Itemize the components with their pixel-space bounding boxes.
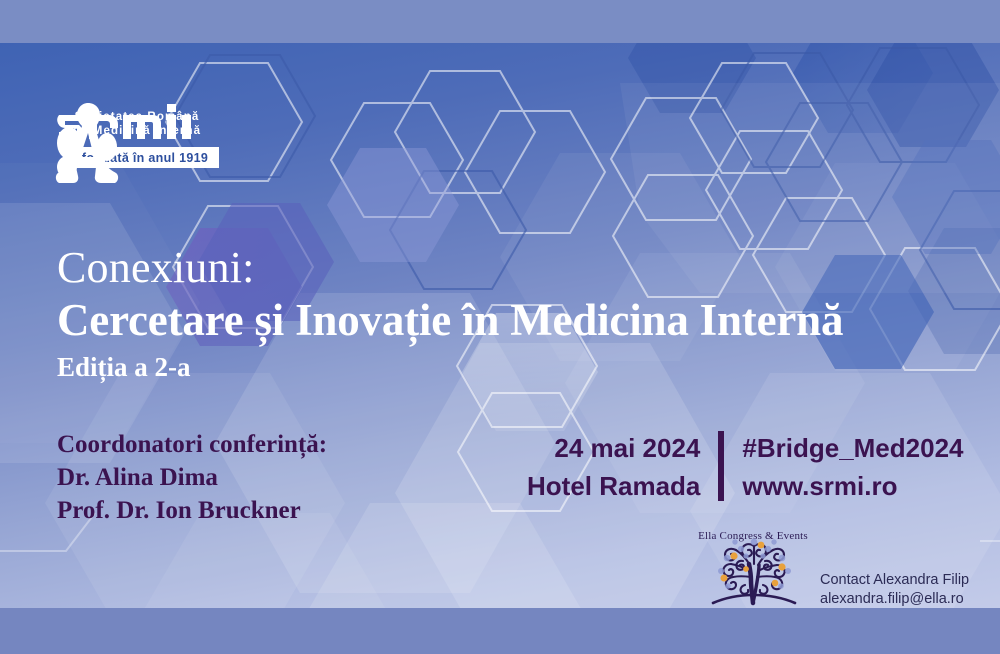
coordinator-name-1: Dr. Alina Dima bbox=[57, 461, 327, 494]
headline-block: Conexiuni: Cercetare și Inovație în Medi… bbox=[57, 243, 843, 385]
event-date: 24 mai 2024 bbox=[527, 429, 700, 467]
srmi-logo: Societatea Română de Medicină Internă fo… bbox=[55, 101, 275, 168]
coordinator-name-2: Prof. Dr. Ion Bruckner bbox=[57, 494, 327, 527]
bottom-border-band bbox=[0, 608, 1000, 654]
banner-artwork-stage: Societatea Română de Medicină Internă fo… bbox=[0, 43, 1000, 608]
coordinators-block: Coordonatori conferință: Dr. Alina Dima … bbox=[57, 428, 327, 527]
event-date-venue: 24 mai 2024 Hotel Ramada bbox=[527, 429, 718, 505]
event-links: #Bridge_Med2024 www.srmi.ro bbox=[724, 429, 963, 505]
event-venue: Hotel Ramada bbox=[527, 467, 700, 505]
srmi-wordmark-icon bbox=[55, 101, 203, 145]
ella-tree-icon bbox=[697, 531, 809, 608]
headline-edition: Ediția a 2-a bbox=[57, 349, 843, 385]
contact-block: Contact Alexandra Filip alexandra.filip@… bbox=[820, 571, 969, 608]
contact-email[interactable]: alexandra.filip@ella.ro bbox=[820, 590, 969, 609]
event-hashtag[interactable]: #Bridge_Med2024 bbox=[742, 429, 963, 467]
coordinators-heading: Coordonatori conferință: bbox=[57, 428, 327, 461]
top-border-band bbox=[0, 0, 1000, 43]
event-website-link[interactable]: www.srmi.ro bbox=[742, 467, 963, 505]
headline-kicker: Conexiuni: bbox=[57, 243, 843, 293]
contact-person: Contact Alexandra Filip bbox=[820, 571, 969, 590]
conference-banner: Societatea Română de Medicină Internă fo… bbox=[0, 0, 1000, 654]
ella-congress-logo: Ella Congress & Events bbox=[697, 531, 809, 542]
headline-main-title: Cercetare și Inovație în Medicina Intern… bbox=[57, 293, 843, 347]
event-info-block: 24 mai 2024 Hotel Ramada #Bridge_Med2024… bbox=[527, 429, 964, 505]
